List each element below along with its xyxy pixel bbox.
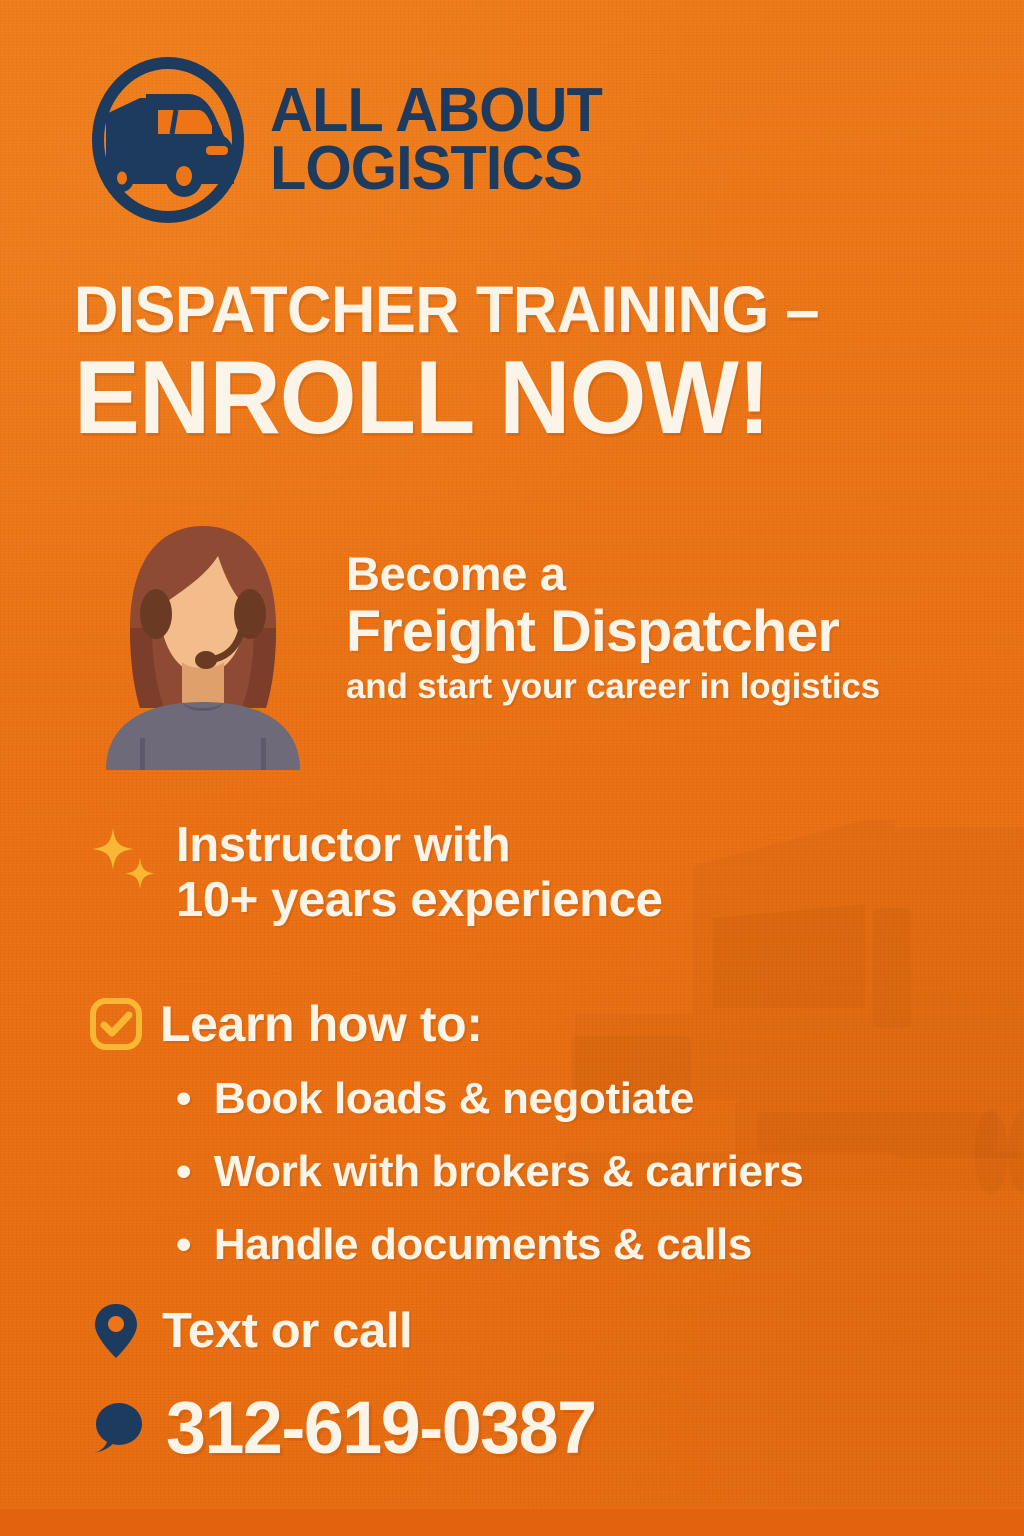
- subhead-line-2: Freight Dispatcher: [346, 603, 875, 661]
- logo-line-2: LOGISTICS: [270, 140, 602, 197]
- logo-line-1: ALL ABOUT: [270, 82, 602, 139]
- subhead-line-1: Become a: [346, 550, 880, 597]
- speech-bubble-icon: [92, 1402, 144, 1454]
- list-item: • Book loads & negotiate: [176, 1074, 803, 1124]
- map-pin-icon: [92, 1302, 140, 1360]
- subhead-line-3: and start your career in logistics: [346, 669, 880, 704]
- headset-operator-avatar: [78, 512, 328, 770]
- bullet-glyph: •: [176, 1074, 202, 1124]
- list-item-label: Book loads & negotiate: [214, 1074, 694, 1123]
- headline-line-1: DISPATCHER TRAINING –: [74, 278, 902, 341]
- contact-call-label: Text or call: [162, 1303, 412, 1359]
- bottom-accent-bar: [0, 1508, 1024, 1536]
- list-item-label: Handle documents & calls: [214, 1220, 752, 1269]
- instructor-line-2: 10+ years experience: [176, 873, 662, 928]
- learn-bullet-list: • Book loads & negotiate • Work with bro…: [176, 1074, 803, 1293]
- check-box-icon: [88, 996, 144, 1052]
- phone-number[interactable]: 312-619-0387: [166, 1385, 596, 1470]
- feature-learn-heading: Learn how to:: [88, 995, 483, 1053]
- feature-instructor: Instructor with 10+ years experience: [88, 818, 662, 928]
- bullet-glyph: •: [176, 1147, 202, 1197]
- sparkles-icon: [88, 826, 160, 898]
- contact-phone-row[interactable]: 312-619-0387: [92, 1385, 609, 1470]
- contact-call-row: Text or call: [92, 1302, 412, 1360]
- instructor-line-1: Instructor with: [176, 818, 662, 873]
- list-item-label: Work with brokers & carriers: [214, 1147, 804, 1196]
- headline-line-2: ENROLL NOW!: [74, 349, 920, 449]
- list-item: • Handle documents & calls: [176, 1220, 803, 1270]
- bullet-glyph: •: [176, 1220, 202, 1270]
- brand-logo: ALL ABOUT LOGISTICS: [88, 52, 616, 227]
- delivery-truck-in-circle-icon: [88, 52, 248, 227]
- subhead-block: Become a Freight Dispatcher and start yo…: [78, 512, 880, 770]
- page-title: DISPATCHER TRAINING – ENROLL NOW!: [74, 278, 964, 449]
- learn-heading-label: Learn how to:: [160, 995, 483, 1053]
- list-item: • Work with brokers & carriers: [176, 1147, 803, 1197]
- poster-canvas: ALL ABOUT LOGISTICS DISPATCHER TRAINING …: [0, 0, 1024, 1536]
